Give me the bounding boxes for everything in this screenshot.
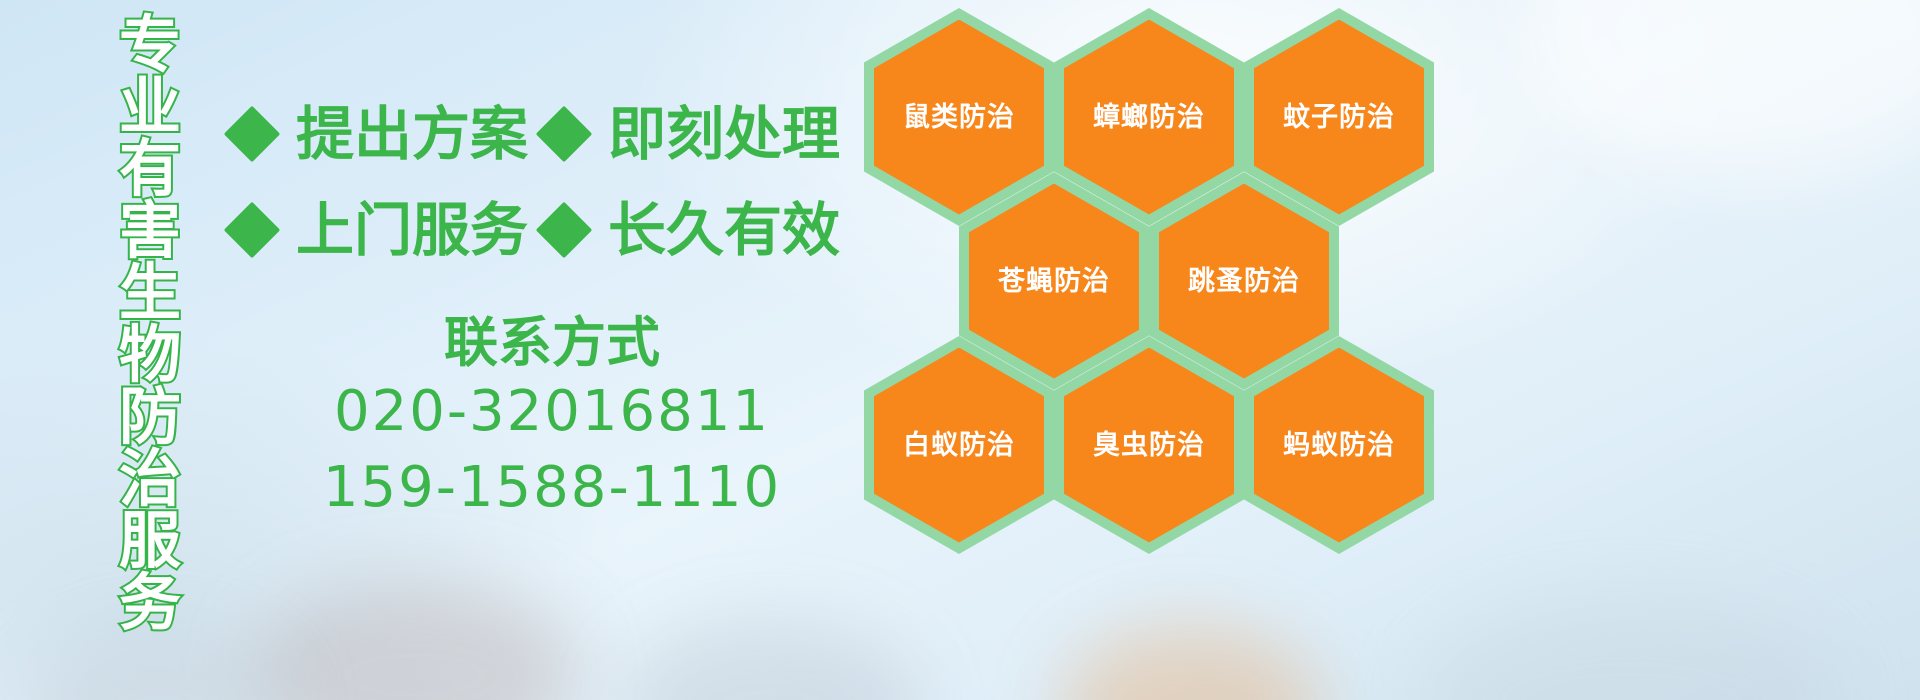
vertical-title-char: 物: [119, 324, 181, 386]
vertical-title-char: 业: [119, 76, 181, 138]
vertical-title-char: 防: [119, 386, 181, 448]
background-blur-blob: [620, 620, 920, 700]
service-label: 蚂蚁防治: [1283, 432, 1395, 459]
background-blur-blob: [250, 580, 580, 700]
vertical-title-char: 专: [119, 14, 181, 76]
slogan-list: 提出方案 即刻处理 上门服务 长久有效: [232, 86, 872, 278]
service-label: 鼠类防治: [903, 104, 1015, 131]
vertical-title-char: 生: [119, 262, 181, 324]
service-label: 苍蝇防治: [998, 268, 1110, 295]
diamond-bullet-icon: [224, 202, 281, 259]
service-label: 蟑螂防治: [1093, 104, 1205, 131]
slogan-text: 提出方案: [296, 105, 528, 163]
background-blur-blob: [1060, 625, 1320, 700]
diamond-bullet-icon: [224, 106, 281, 163]
service-label: 跳蚤防治: [1188, 268, 1300, 295]
slogan-text: 上门服务: [296, 201, 528, 259]
diamond-bullet-icon: [536, 106, 593, 163]
hex-inner: 蚂蚁防治: [1254, 348, 1424, 543]
hex-inner: 蟑螂防治: [1064, 20, 1234, 215]
service-label: 白蚁防治: [903, 432, 1015, 459]
diamond-bullet-icon: [536, 202, 593, 259]
background-blur-blob: [1530, 0, 1920, 180]
pest-control-banner: 专 业 有 害 生 物 防 治 服 务 提出方案 即刻处理 上门服务 长久有效 …: [0, 0, 1920, 700]
hex-inner: 鼠类防治: [874, 20, 1044, 215]
service-label: 蚊子防治: [1283, 104, 1395, 131]
service-label: 臭虫防治: [1093, 432, 1205, 459]
vertical-title-char: 服: [119, 510, 181, 572]
vertical-title-char: 治: [119, 448, 181, 510]
vertical-title-char: 有: [119, 138, 181, 200]
hex-inner: 跳蚤防治: [1159, 184, 1329, 379]
vertical-title-char: 务: [119, 572, 181, 634]
contact-block: 联系方式 020-32016811 159-1588-1110: [232, 312, 872, 525]
vertical-title-char: 害: [119, 200, 181, 262]
service-honeycomb: 鼠类防治 蟑螂防治 蚊子防治 苍蝇防治 跳蚤防治 白蚁防: [860, 0, 1460, 560]
slogan-text: 长久有效: [608, 201, 840, 259]
hex-inner: 白蚁防治: [874, 348, 1044, 543]
slogan-text: 即刻处理: [608, 105, 840, 163]
contact-phone-mobile[interactable]: 159-1588-1110: [232, 450, 872, 526]
hex-inner: 苍蝇防治: [969, 184, 1139, 379]
contact-phone-landline[interactable]: 020-32016811: [232, 374, 872, 450]
slogan-row: 提出方案 即刻处理: [232, 86, 872, 182]
slogan-row: 上门服务 长久有效: [232, 182, 872, 278]
contact-title: 联系方式: [232, 312, 872, 374]
hex-inner: 蚊子防治: [1254, 20, 1424, 215]
background-blur-blob: [30, 630, 290, 700]
background-blur-blob: [1420, 600, 1840, 700]
hex-inner: 臭虫防治: [1064, 348, 1234, 543]
vertical-title: 专 业 有 害 生 物 防 治 服 务: [104, 14, 196, 548]
